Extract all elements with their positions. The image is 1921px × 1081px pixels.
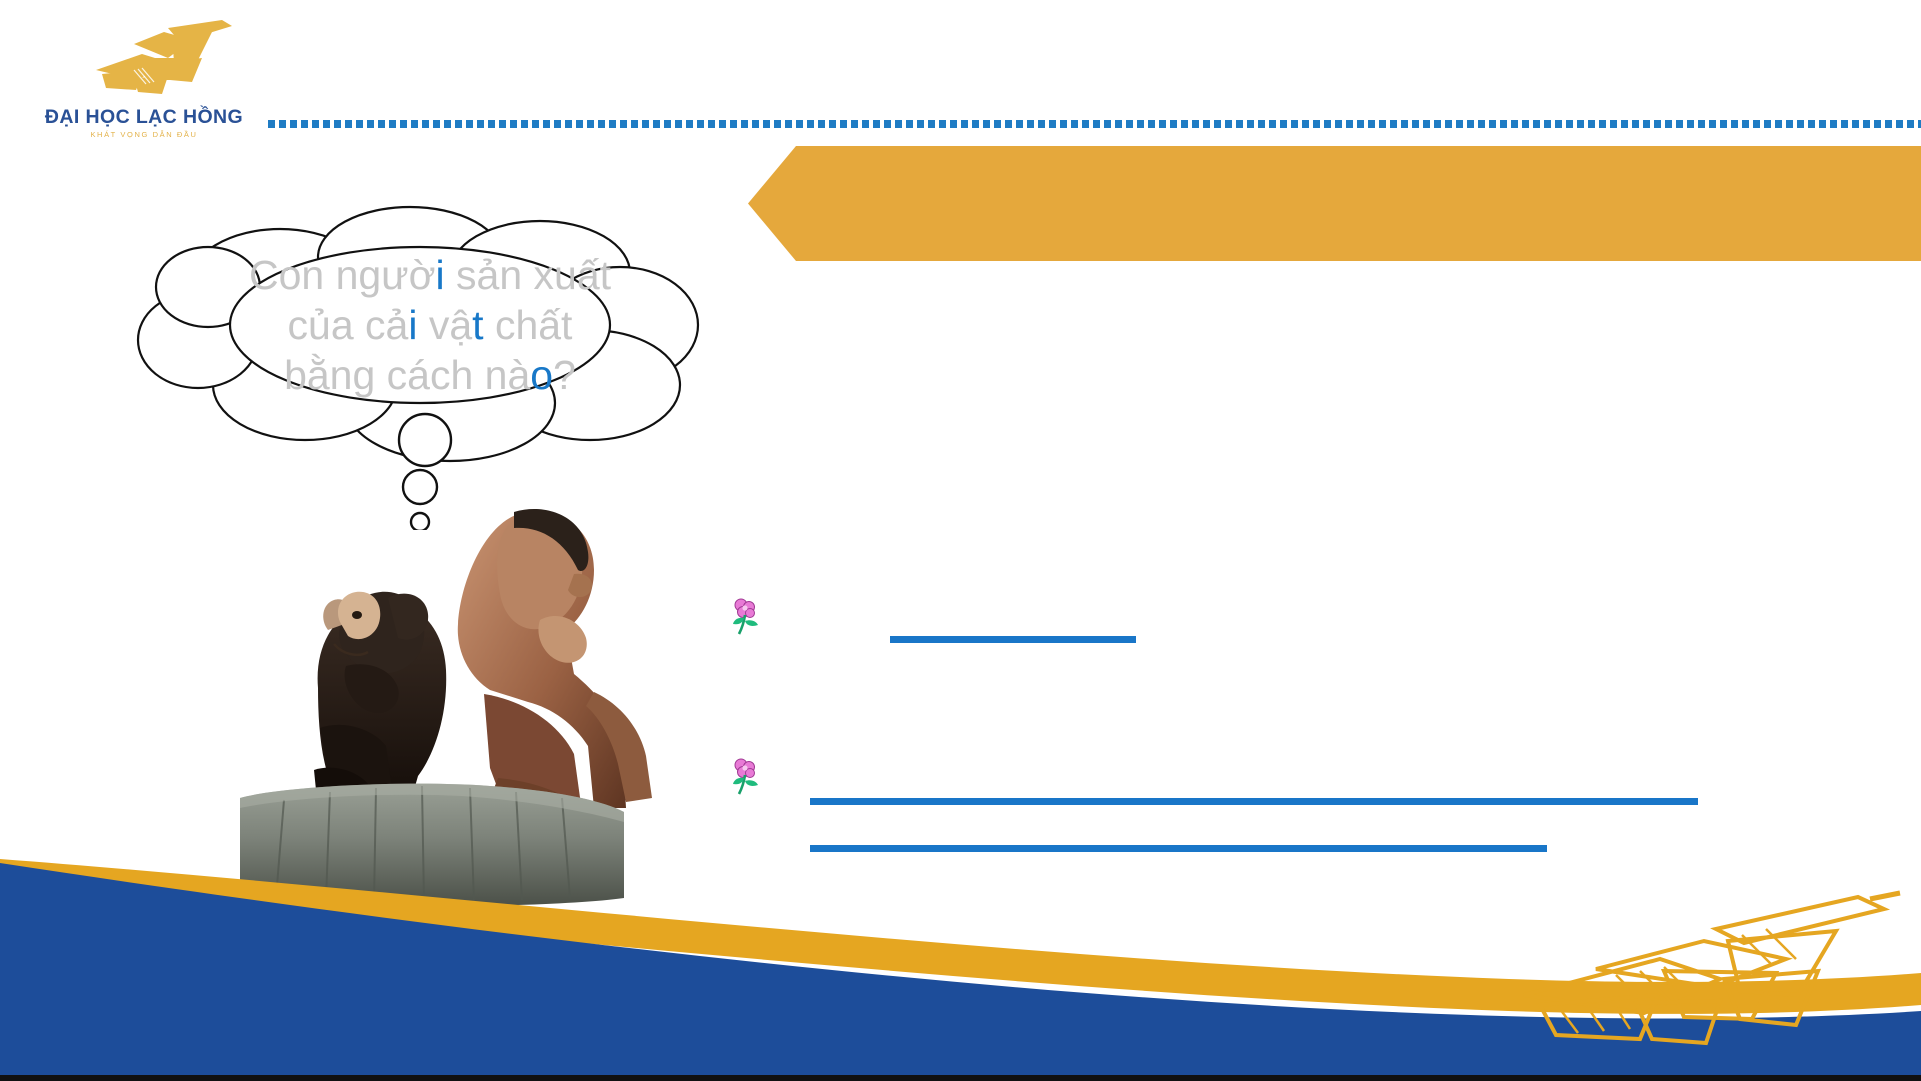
line2-part5: chất [484,302,573,348]
line3-part1: bằng cách nà [284,352,530,398]
line1-part1: Con ngườ [249,252,436,298]
line2-highlight-2: t [472,302,483,348]
pink-flower-bullet-icon [728,756,762,798]
chimpanzee-and-man-thinker-photo [222,478,685,913]
bullet-1-text [810,596,1868,598]
line3-highlight: o [530,352,553,398]
gold-origami-bird-icon [1524,893,1900,1043]
bottom-strip [0,1075,1921,1081]
answer-rule-2b [810,845,1547,852]
paper-plane-logo-icon [72,18,242,106]
logo-tagline: KHÁT VỌNG DẪN ĐẦU [24,130,264,139]
thought-bubble-line-2: của cải vật chất [185,300,675,350]
slide-canvas: ĐẠI HỌC LẠC HỒNG KHÁT VỌNG DẪN ĐẦU [0,0,1921,1081]
thought-bubble-line-3: bằng cách nào? [185,350,675,400]
line3-part3: ? [553,352,576,398]
title-banner [748,146,1921,261]
bullet-2-text [810,756,1868,758]
dotted-rule-icon [268,120,1921,128]
university-logo: ĐẠI HỌC LẠC HỒNG KHÁT VỌNG DẪN ĐẦU [24,18,264,143]
line1-highlight: i [436,252,445,298]
line2-part1: của cả [288,302,409,348]
title-banner-text [838,146,1901,261]
bullet-2-content [810,756,1868,852]
bullet-1-content [810,596,1868,643]
answer-rule-1a [890,636,1136,643]
line1-part3: sản xuất [445,252,611,298]
answer-rule-2a [810,798,1698,805]
pink-flower-bullet-icon [728,596,762,638]
thought-bubble-line-1: Con người sản xuất [185,250,675,300]
thought-bubble-text: Con người sản xuất của cải vật chất bằng… [185,250,675,400]
logo-university-name: ĐẠI HỌC LẠC HỒNG [24,106,264,129]
line2-part3: vậ [417,302,472,348]
